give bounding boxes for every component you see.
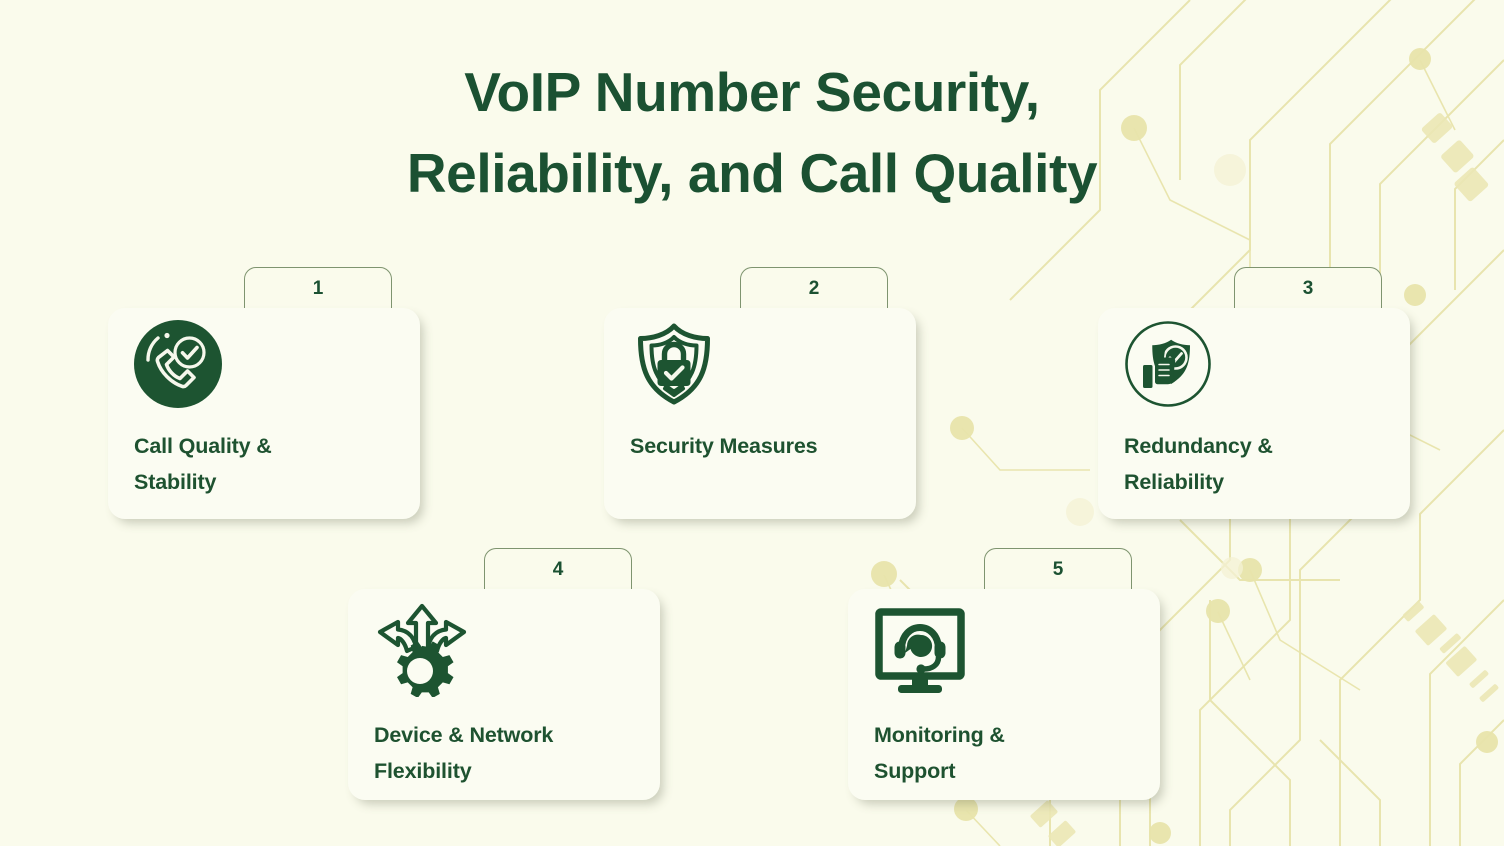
card-number-2: 2 — [809, 279, 820, 298]
card-number-1: 1 — [313, 279, 324, 298]
card-redundancy-reliability[interactable]: 3 Redundancy & Reliability — [1098, 267, 1410, 519]
card-body-2[interactable]: Security Measures — [604, 308, 916, 519]
card-body-4[interactable]: Device & Network Flexibility — [348, 589, 660, 800]
gear-arrows-icon — [374, 601, 470, 697]
card-device-network-flexibility[interactable]: 4 Device & Ne — [348, 548, 660, 800]
card-body-3[interactable]: Redundancy & Reliability — [1098, 308, 1410, 519]
card-label-1: Call Quality & Stability — [134, 428, 394, 500]
card-label-5: Monitoring & Support — [874, 717, 1144, 789]
card-label-2: Security Measures — [630, 428, 900, 464]
card-number-4: 4 — [553, 560, 564, 579]
shield-lock-icon — [630, 320, 718, 408]
card-number-5: 5 — [1053, 560, 1064, 579]
thumbs-up-shield-check-icon — [1124, 320, 1212, 408]
card-monitoring-support[interactable]: 5 Monitoring & Support — [848, 548, 1160, 800]
monitor-headset-icon — [874, 607, 966, 695]
phone-check-circle-icon — [134, 320, 222, 408]
card-call-quality-stability[interactable]: 1 Call Quality & Stability — [108, 267, 420, 519]
card-number-3: 3 — [1303, 279, 1314, 298]
card-label-3: Redundancy & Reliability — [1124, 428, 1394, 500]
card-security-measures[interactable]: 2 Security Measures — [604, 267, 916, 519]
card-body-5[interactable]: Monitoring & Support — [848, 589, 1160, 800]
card-body-1[interactable]: Call Quality & Stability — [108, 308, 420, 519]
card-label-4: Device & Network Flexibility — [374, 717, 654, 789]
page-title: VoIP Number Security, Reliability, and C… — [0, 52, 1504, 215]
